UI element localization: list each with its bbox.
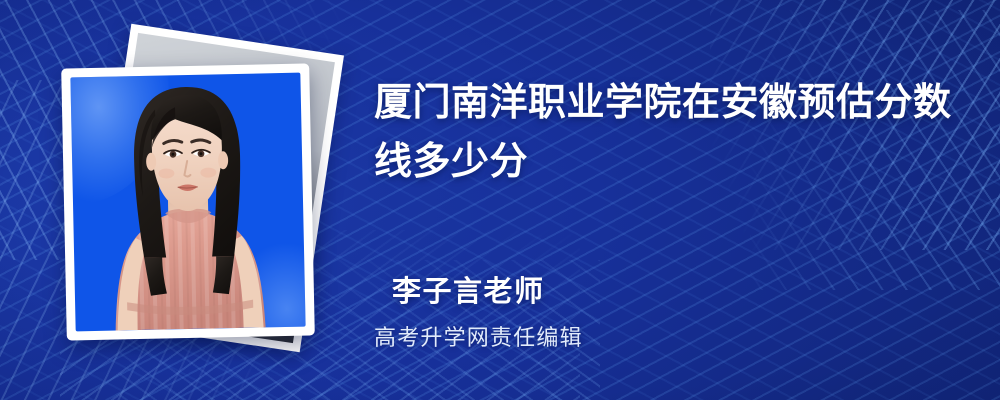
page-title: 厦门南洋职业学院在安徽预估分数线多少分 bbox=[374, 74, 954, 192]
author-portrait-photo bbox=[70, 73, 305, 332]
photo-stack-icon bbox=[62, 34, 350, 364]
author-name: 李子言老师 bbox=[392, 268, 545, 310]
portrait-icon bbox=[70, 73, 305, 332]
cover-text-column: 厦门南洋职业学院在安徽预估分数线多少分 李子言老师 高考升学网责任编辑 bbox=[374, 0, 970, 400]
author-role: 高考升学网责任编辑 bbox=[374, 320, 583, 352]
article-cover-banner: 厦门南洋职业学院在安徽预估分数线多少分 李子言老师 高考升学网责任编辑 bbox=[0, 0, 1000, 400]
photo-card-front bbox=[61, 63, 315, 340]
